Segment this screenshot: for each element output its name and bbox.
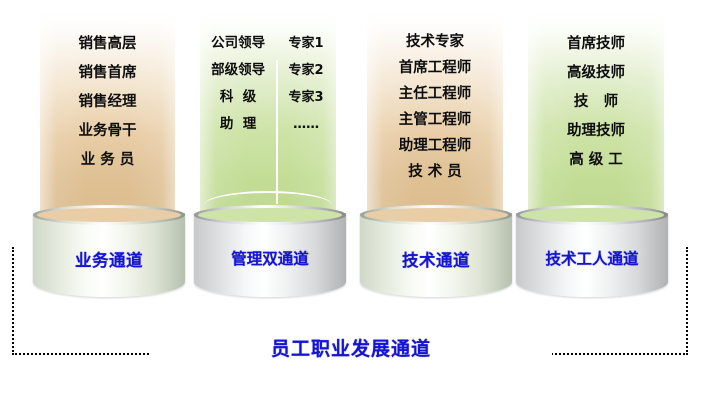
- career-column-management[interactable]: 公司领导 部级领导 科 级 助 理 专家1 专家2 专家3 ……: [200, 12, 336, 212]
- level-label: 科 级: [220, 90, 256, 105]
- pedestal-label: 技术通道: [360, 247, 512, 271]
- level-label: 业务骨干: [79, 123, 137, 139]
- level-label: 主任工程师: [399, 86, 472, 102]
- column-split-panes: 公司领导 部级领导 科 级 助 理 专家1 专家2 专家3 ……: [200, 12, 336, 212]
- level-label: 助 理: [220, 117, 256, 132]
- pedestal-label: 技术工人通道: [516, 247, 668, 269]
- level-label: 技术专家: [406, 34, 464, 50]
- column-levels: 技术专家 首席工程师 主任工程师 主管工程师 助理工程师 技 术 员: [367, 12, 503, 212]
- split-divider: [276, 60, 278, 204]
- pedestal-label: 管理双通道: [194, 247, 346, 269]
- level-label: 部级领导: [211, 63, 265, 78]
- pedestal-rim-inner: [198, 208, 342, 222]
- career-column-business[interactable]: 销售高层 销售首席 销售经理 业务骨干 业 务 员: [40, 12, 175, 212]
- pedestal-rim: [194, 205, 346, 225]
- level-label: 主管工程师: [399, 112, 472, 128]
- pedestal-technical-worker[interactable]: 技术工人通道: [516, 205, 668, 299]
- column-levels: 销售高层 销售首席 销售经理 业务骨干 业 务 员: [40, 12, 175, 212]
- level-label: 高 级 工: [569, 152, 623, 168]
- level-label: 业 务 员: [81, 152, 135, 168]
- level-label: 专家1: [289, 36, 324, 51]
- pedestal-technical[interactable]: 技术通道: [360, 205, 512, 299]
- diagram-title: 员工职业发展通道: [0, 334, 702, 361]
- level-label: 专家3: [289, 90, 324, 105]
- level-label: 首席工程师: [399, 60, 472, 76]
- level-label: 公司领导: [211, 36, 265, 51]
- level-label: ……: [293, 117, 319, 132]
- level-label: 首席技师: [567, 36, 625, 52]
- pedestal-rim: [360, 205, 512, 225]
- level-label: 销售经理: [79, 94, 137, 110]
- level-label: 销售高层: [79, 36, 137, 52]
- level-label: 技 术 员: [408, 164, 462, 180]
- level-label: 专家2: [289, 63, 324, 78]
- management-pane-right: 专家1 专家2 专家3 ……: [276, 12, 336, 212]
- pedestal-rim-inner: [364, 208, 508, 222]
- pedestal-rim-inner: [520, 208, 664, 222]
- pedestal-rim: [33, 205, 185, 225]
- pedestal-rim-inner: [37, 208, 181, 222]
- diagram-canvas: 销售高层 销售首席 销售经理 业务骨干 业 务 员 业务通道 公司领导 部级领导…: [0, 0, 702, 411]
- pedestal-label: 业务通道: [33, 247, 185, 271]
- management-pane-left: 公司领导 部级领导 科 级 助 理: [200, 12, 276, 212]
- pedestal-management[interactable]: 管理双通道: [194, 205, 346, 299]
- column-levels: 首席技师 高级技师 技 师 助理技师 高 级 工: [528, 12, 664, 212]
- career-column-technical-worker[interactable]: 首席技师 高级技师 技 师 助理技师 高 级 工: [528, 12, 664, 212]
- level-label: 技 师: [574, 94, 618, 110]
- level-label: 助理技师: [567, 123, 625, 139]
- level-label: 助理工程师: [399, 138, 472, 154]
- career-column-technical[interactable]: 技术专家 首席工程师 主任工程师 主管工程师 助理工程师 技 术 员: [367, 12, 503, 212]
- pedestal-rim: [516, 205, 668, 225]
- level-label: 销售首席: [79, 65, 137, 81]
- level-label: 高级技师: [567, 65, 625, 81]
- pedestal-business[interactable]: 业务通道: [33, 205, 185, 299]
